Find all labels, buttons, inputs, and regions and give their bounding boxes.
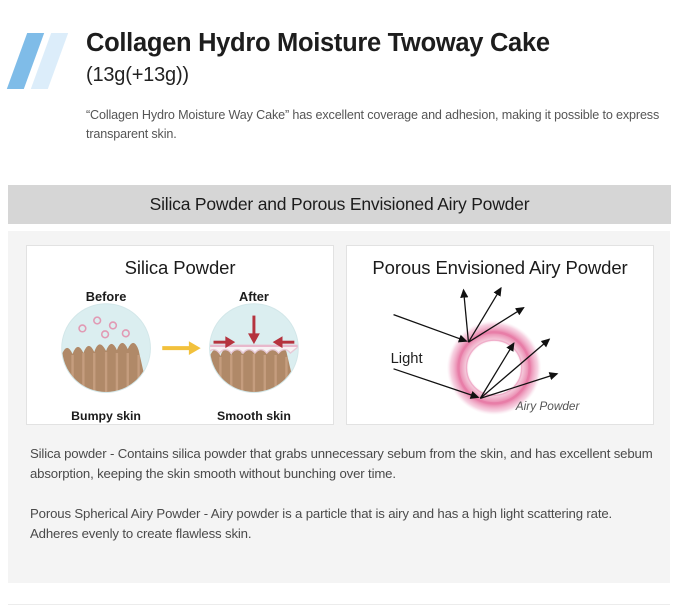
before-circle-contents [62, 304, 151, 403]
after-label: After [239, 289, 269, 304]
porous-airy-powder-card: Porous Envisioned Airy Powder [346, 245, 654, 425]
ingredient-description-block: Silica powder - Contains silica powder t… [30, 444, 658, 544]
ingredient-card-row: Silica Powder Before [26, 245, 654, 425]
airy-powder-diagram: Light Airy Powder [347, 286, 653, 424]
product-subtitle: (13g(+13g)) [86, 64, 189, 87]
after-caption: Smooth skin [217, 409, 291, 423]
silica-before-after-illustration: Before [27, 286, 333, 424]
airy-powder-paragraph: Porous Spherical Airy Powder - Airy powd… [30, 504, 658, 544]
before-caption: Bumpy skin [71, 409, 141, 423]
light-scattering-illustration: Light Airy Powder [347, 286, 653, 424]
page-header: Collagen Hydro Moisture Twoway Cake (13g… [0, 0, 679, 170]
silica-powder-paragraph: Silica powder - Contains silica powder t… [30, 444, 658, 484]
footer-divider [8, 604, 670, 605]
product-title: Collagen Hydro Moisture Twoway Cake [86, 29, 550, 58]
porous-airy-powder-card-title: Porous Envisioned Airy Powder [347, 257, 653, 279]
silica-powder-card-title: Silica Powder [27, 257, 333, 279]
silica-powder-diagram: Before [27, 286, 333, 424]
section-header-title: Silica Powder and Porous Envisioned Airy… [150, 194, 530, 215]
before-label: Before [86, 289, 127, 304]
section-header-band: Silica Powder and Porous Envisioned Airy… [8, 185, 671, 224]
airy-powder-label: Airy Powder [515, 399, 581, 413]
product-description: “Collagen Hydro Moisture Way Cake” has e… [86, 106, 672, 144]
light-label: Light [391, 351, 423, 367]
content-panel: Silica Powder Before [8, 231, 670, 583]
transition-arrow-icon [162, 341, 200, 355]
silica-powder-card: Silica Powder Before [26, 245, 334, 425]
double-slash-logo-icon [11, 33, 71, 89]
